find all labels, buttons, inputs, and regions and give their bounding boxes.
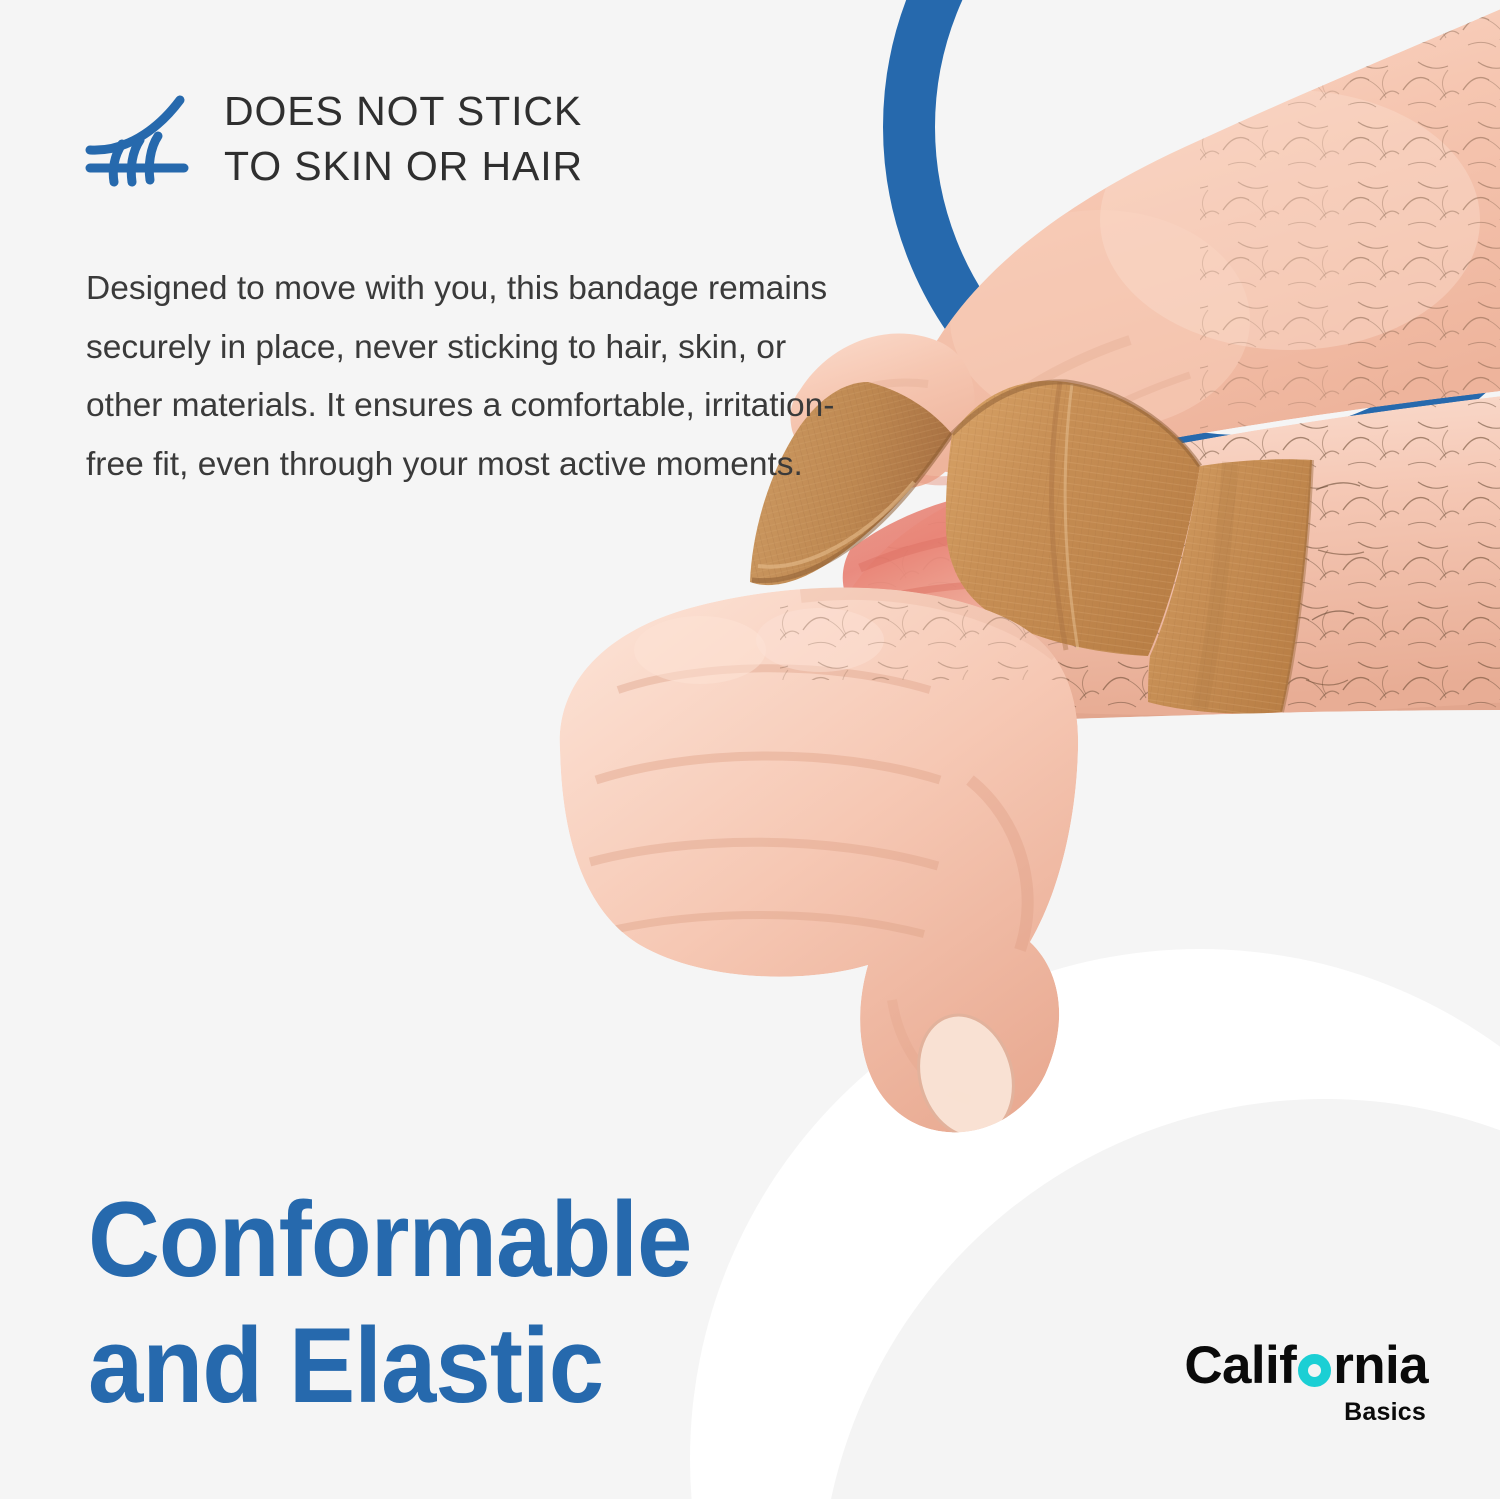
brand-name-part-2: rnia <box>1333 1339 1428 1392</box>
page-headline: Conformable and Elastic <box>88 1176 888 1429</box>
feature-description: Designed to move with you, this bandage … <box>86 260 856 495</box>
brand-subtitle: Basics <box>1184 1398 1426 1427</box>
feature-title: DOES NOT STICK TO SKIN OR HAIR <box>224 84 583 193</box>
brand-logo: Calif rnia Basics <box>1184 1339 1428 1427</box>
product-demo-photo: Hand peeling back a tan cohesive elastic… <box>500 0 1500 1170</box>
teal-ring-o-icon <box>1298 1354 1331 1387</box>
bandage-peeling-off-hair-icon <box>84 90 194 188</box>
brand-name-part-1: Calif <box>1184 1339 1296 1392</box>
brand-name: Calif rnia <box>1184 1339 1428 1392</box>
feature-header: DOES NOT STICK TO SKIN OR HAIR <box>84 84 583 193</box>
product-feature-card: Hand peeling back a tan cohesive elastic… <box>0 0 1500 1499</box>
clenched-fist-shape <box>560 570 1090 1148</box>
